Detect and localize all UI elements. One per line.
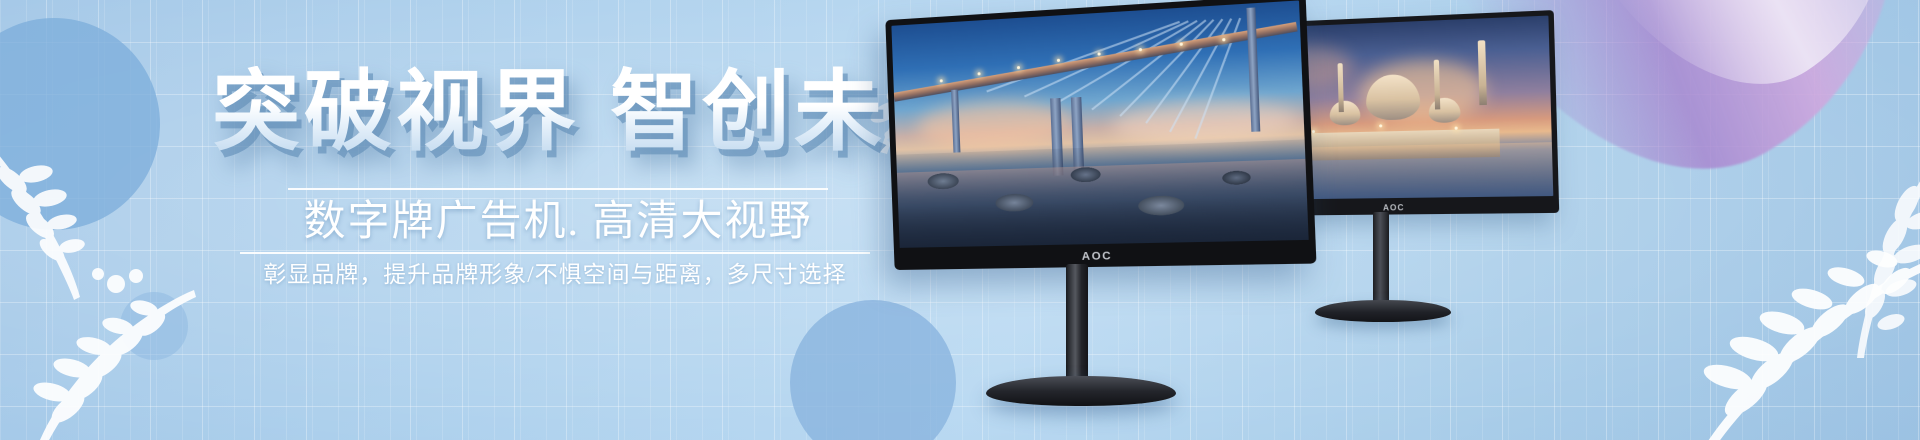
page-title: 突破视界智创未来 [212, 66, 978, 158]
divider-bottom [240, 252, 870, 254]
monitor-right-neck [1373, 212, 1389, 304]
monitor-left-base [986, 376, 1176, 406]
tagline: 彰显品牌，提升品牌形象/不惧空间与距离，多尺寸选择 [240, 258, 870, 292]
rocky-shore [896, 139, 1308, 248]
monitor-left-neck [1066, 264, 1088, 384]
monitor-right-base [1315, 300, 1451, 322]
brand-logo-left: AOC [1082, 250, 1113, 263]
text-block: 突破视界智创未来 数字牌广告机. 高清大视野 彰显品牌，提升品牌形象/不惧空间与… [0, 0, 900, 440]
product-monitors: AOC [880, 0, 1920, 440]
divider-top [288, 188, 828, 190]
subtitle: 数字牌广告机. 高清大视野 [288, 196, 828, 248]
headline-part-1: 突破视界 [212, 62, 580, 161]
monitor-left-screen [891, 0, 1308, 247]
monitor-left: AOC [890, 20, 1310, 420]
monitor-left-panel: AOC [885, 0, 1316, 270]
promo-banner: 突破视界智创未来 数字牌广告机. 高清大视野 彰显品牌，提升品牌形象/不惧空间与… [0, 0, 1920, 440]
